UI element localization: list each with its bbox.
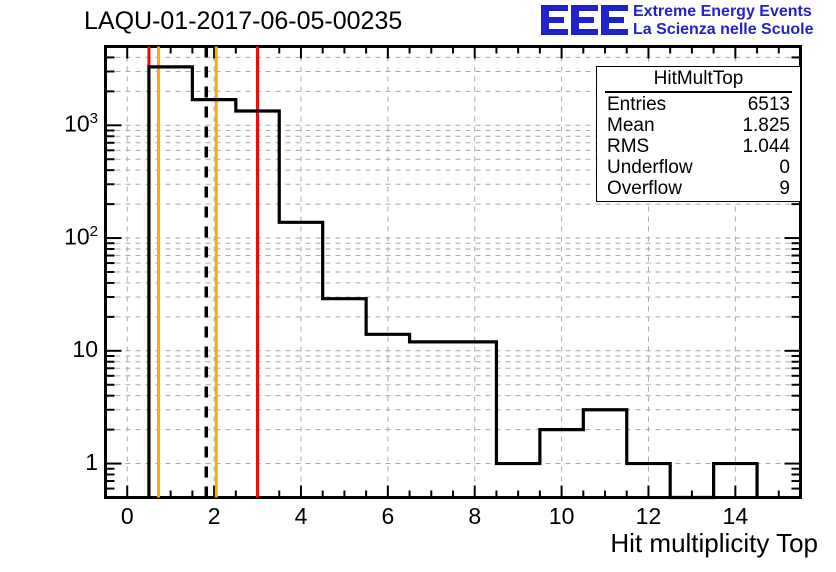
page-title: LAQU-01-2017-06-05-00235 [84, 7, 402, 36]
stats-rows: Entries6513Mean1.825RMS1.044Underflow0Ov… [597, 94, 800, 199]
x-tick-label: 2 [189, 503, 239, 530]
x-tick-label: 8 [450, 503, 500, 530]
x-tick-label: 6 [363, 503, 413, 530]
stats-row-value: 1.044 [742, 136, 790, 157]
stats-box: HitMultTop Entries6513Mean1.825RMS1.044U… [596, 66, 801, 202]
stats-row: Entries6513 [597, 94, 800, 115]
y-tick-label: 103 [20, 110, 98, 138]
stats-row: Mean1.825 [597, 115, 800, 136]
stats-row-value: 1.825 [742, 115, 790, 136]
stats-title: HitMultTop [605, 67, 792, 93]
stats-row-value: 0 [779, 157, 790, 178]
x-tick-label: 0 [102, 503, 152, 530]
x-tick-label: 14 [710, 503, 760, 530]
y-tick-label: 1 [20, 449, 98, 476]
stats-row-label: Entries [607, 94, 666, 115]
x-tick-label: 4 [276, 503, 326, 530]
stats-row: RMS1.044 [597, 136, 800, 157]
x-tick-label: 10 [537, 503, 587, 530]
stats-row-label: RMS [607, 136, 649, 157]
eee-logo-mark [541, 3, 629, 37]
eee-logo: Extreme Energy Events La Scienza nelle S… [541, 2, 833, 40]
y-tick-label: 102 [20, 223, 98, 251]
x-tick-label: 12 [623, 503, 673, 530]
x-axis-title: Hit multiplicity Top [610, 528, 818, 559]
stats-row: Underflow0 [597, 157, 800, 178]
stats-row-label: Overflow [607, 178, 682, 199]
stats-row-label: Mean [607, 115, 655, 136]
stats-row-value: 9 [779, 178, 790, 199]
y-tick-label: 10 [20, 336, 98, 363]
stats-row-label: Underflow [607, 157, 693, 178]
stats-row: Overflow9 [597, 178, 800, 199]
eee-logo-line-2: La Scienza nelle Scuole [633, 21, 814, 39]
stats-row-value: 6513 [748, 94, 790, 115]
eee-logo-line-1: Extreme Energy Events [633, 3, 812, 21]
